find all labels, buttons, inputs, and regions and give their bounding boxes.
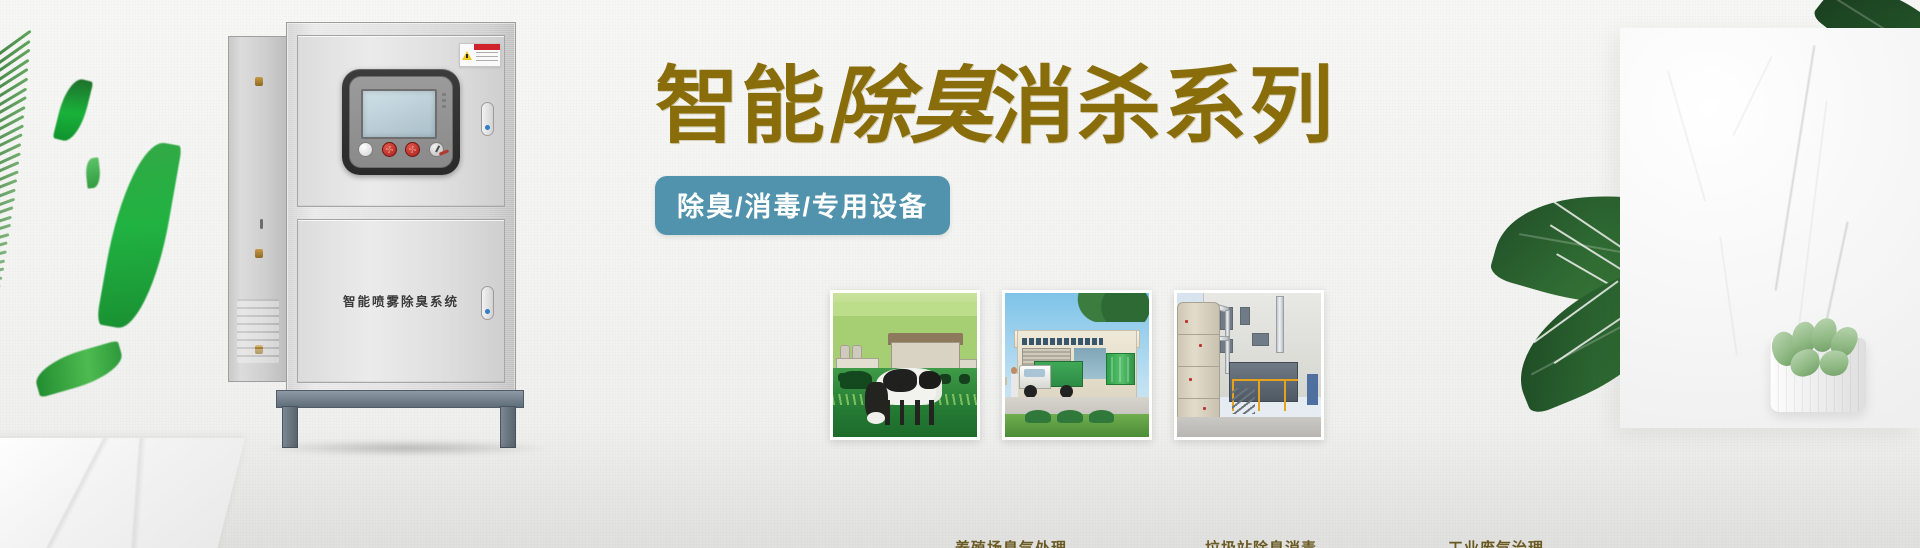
hmi-control-panel[interactable] [342,69,460,175]
machine-side-panel [228,36,288,382]
leaf-long-lower-icon [96,137,182,333]
hazard-triangle-icon [460,44,474,66]
hmi-touch-screen[interactable] [361,89,437,139]
marble-panel-right [1620,28,1920,428]
caption-row: 养殖场臭气处理 垃圾站除臭消毒 工业废气治理 [0,532,1920,548]
machine-cabinet: 智能喷雾除臭系统 [286,22,516,394]
caption-transfer-station: 垃圾站除臭消毒 [1205,537,1317,548]
leaf-tiny-icon [84,157,101,188]
dairy-farm-thumbnail[interactable] [830,290,980,440]
warning-sticker [459,43,501,67]
deodorizing-machine: 智能喷雾除臭系统 [228,22,578,422]
emergency-red-2-button[interactable] [405,142,420,157]
headline-part-1: 智能 [655,61,827,154]
headline-part-3: 消杀系列 [991,61,1335,154]
application-thumbnails [830,290,1324,440]
caption-industrial: 工业废气治理 [1448,537,1544,548]
selector-knob[interactable] [429,142,444,157]
page-title: 智能除臭消杀系列 [655,64,1355,150]
hmi-status-leds [442,93,446,111]
leaf-small-upper-icon [53,76,94,144]
product-banner: 智能喷雾除臭系统 智能除臭消杀系列 除臭/消毒/专用设备 [0,0,1920,548]
machine-shadow [262,440,552,456]
indicator-white-button[interactable] [358,142,373,157]
headline-part-2: 除臭 [827,56,991,155]
upper-door-handle[interactable] [481,102,494,136]
transfer-station-thumbnail[interactable] [1002,290,1152,440]
industrial-plant-thumbnail[interactable] [1174,290,1324,440]
machine-name-plate: 智能喷雾除臭系统 [287,291,515,310]
machine-base [276,390,524,408]
leaf-bottom-left-icon [31,340,127,397]
side-keyhole-icon [260,219,263,229]
ventilation-louvers-icon [237,299,279,363]
banner-text-block: 智能除臭消杀系列 除臭/消毒/专用设备 [655,64,1355,235]
status-badge: 除臭/消毒/专用设备 [655,176,950,235]
emergency-red-1-button[interactable] [382,142,397,157]
caption-farm: 养殖场臭气处理 [955,537,1067,548]
